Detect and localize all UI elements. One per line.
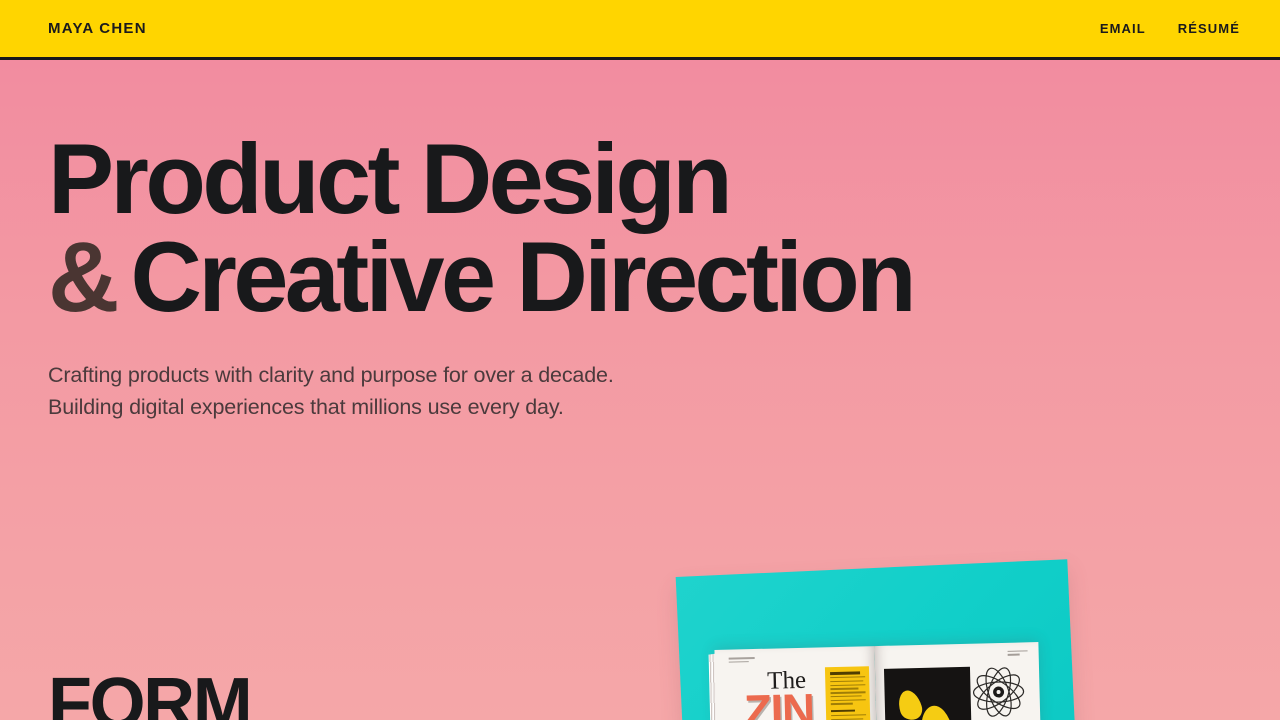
hero-subtitle-line-1: Crafting products with clarity and purpo… bbox=[48, 359, 1280, 391]
hero-title-line-2-text: Creative Direction bbox=[131, 221, 914, 332]
site-header: MAYA CHEN EMAIL RÉSUMÉ bbox=[0, 0, 1280, 60]
black-art-panel bbox=[884, 667, 973, 720]
hero-subtitle-line-2: Building digital experiences that millio… bbox=[48, 391, 1280, 423]
nav-link-resume[interactable]: RÉSUMÉ bbox=[1178, 22, 1240, 35]
left-page-kicker bbox=[729, 657, 755, 663]
pear-shape-large bbox=[918, 703, 956, 720]
portfolio-landing-page: MAYA CHEN EMAIL RÉSUMÉ Product Design &C… bbox=[0, 0, 1280, 720]
primary-nav: EMAIL RÉSUMÉ bbox=[1100, 22, 1240, 35]
hero-section: Product Design &Creative Direction Craft… bbox=[0, 60, 1280, 423]
site-logo[interactable]: MAYA CHEN bbox=[48, 21, 147, 36]
magazine-left-page: The ZIN bbox=[714, 646, 877, 720]
nav-link-email[interactable]: EMAIL bbox=[1100, 22, 1146, 35]
hero-subtitle: Crafting products with clarity and purpo… bbox=[48, 359, 1280, 423]
pear-shape-small bbox=[895, 688, 925, 720]
left-page-yellow-sidebar bbox=[825, 666, 872, 720]
section-heading-form: FORM bbox=[48, 668, 250, 720]
magazine-right-page bbox=[874, 642, 1041, 720]
page-title: Product Design &Creative Direction bbox=[48, 130, 1280, 325]
hero-title-line-2: &Creative Direction bbox=[48, 228, 1280, 326]
right-page-folio bbox=[1008, 650, 1030, 657]
hero-title-line-1: Product Design bbox=[48, 130, 1280, 228]
open-magazine: The ZIN bbox=[714, 642, 1041, 720]
atom-diagram-icon bbox=[971, 664, 1026, 719]
magazine-photo: The ZIN bbox=[660, 548, 1120, 720]
ampersand-glyph: & bbox=[48, 221, 119, 332]
